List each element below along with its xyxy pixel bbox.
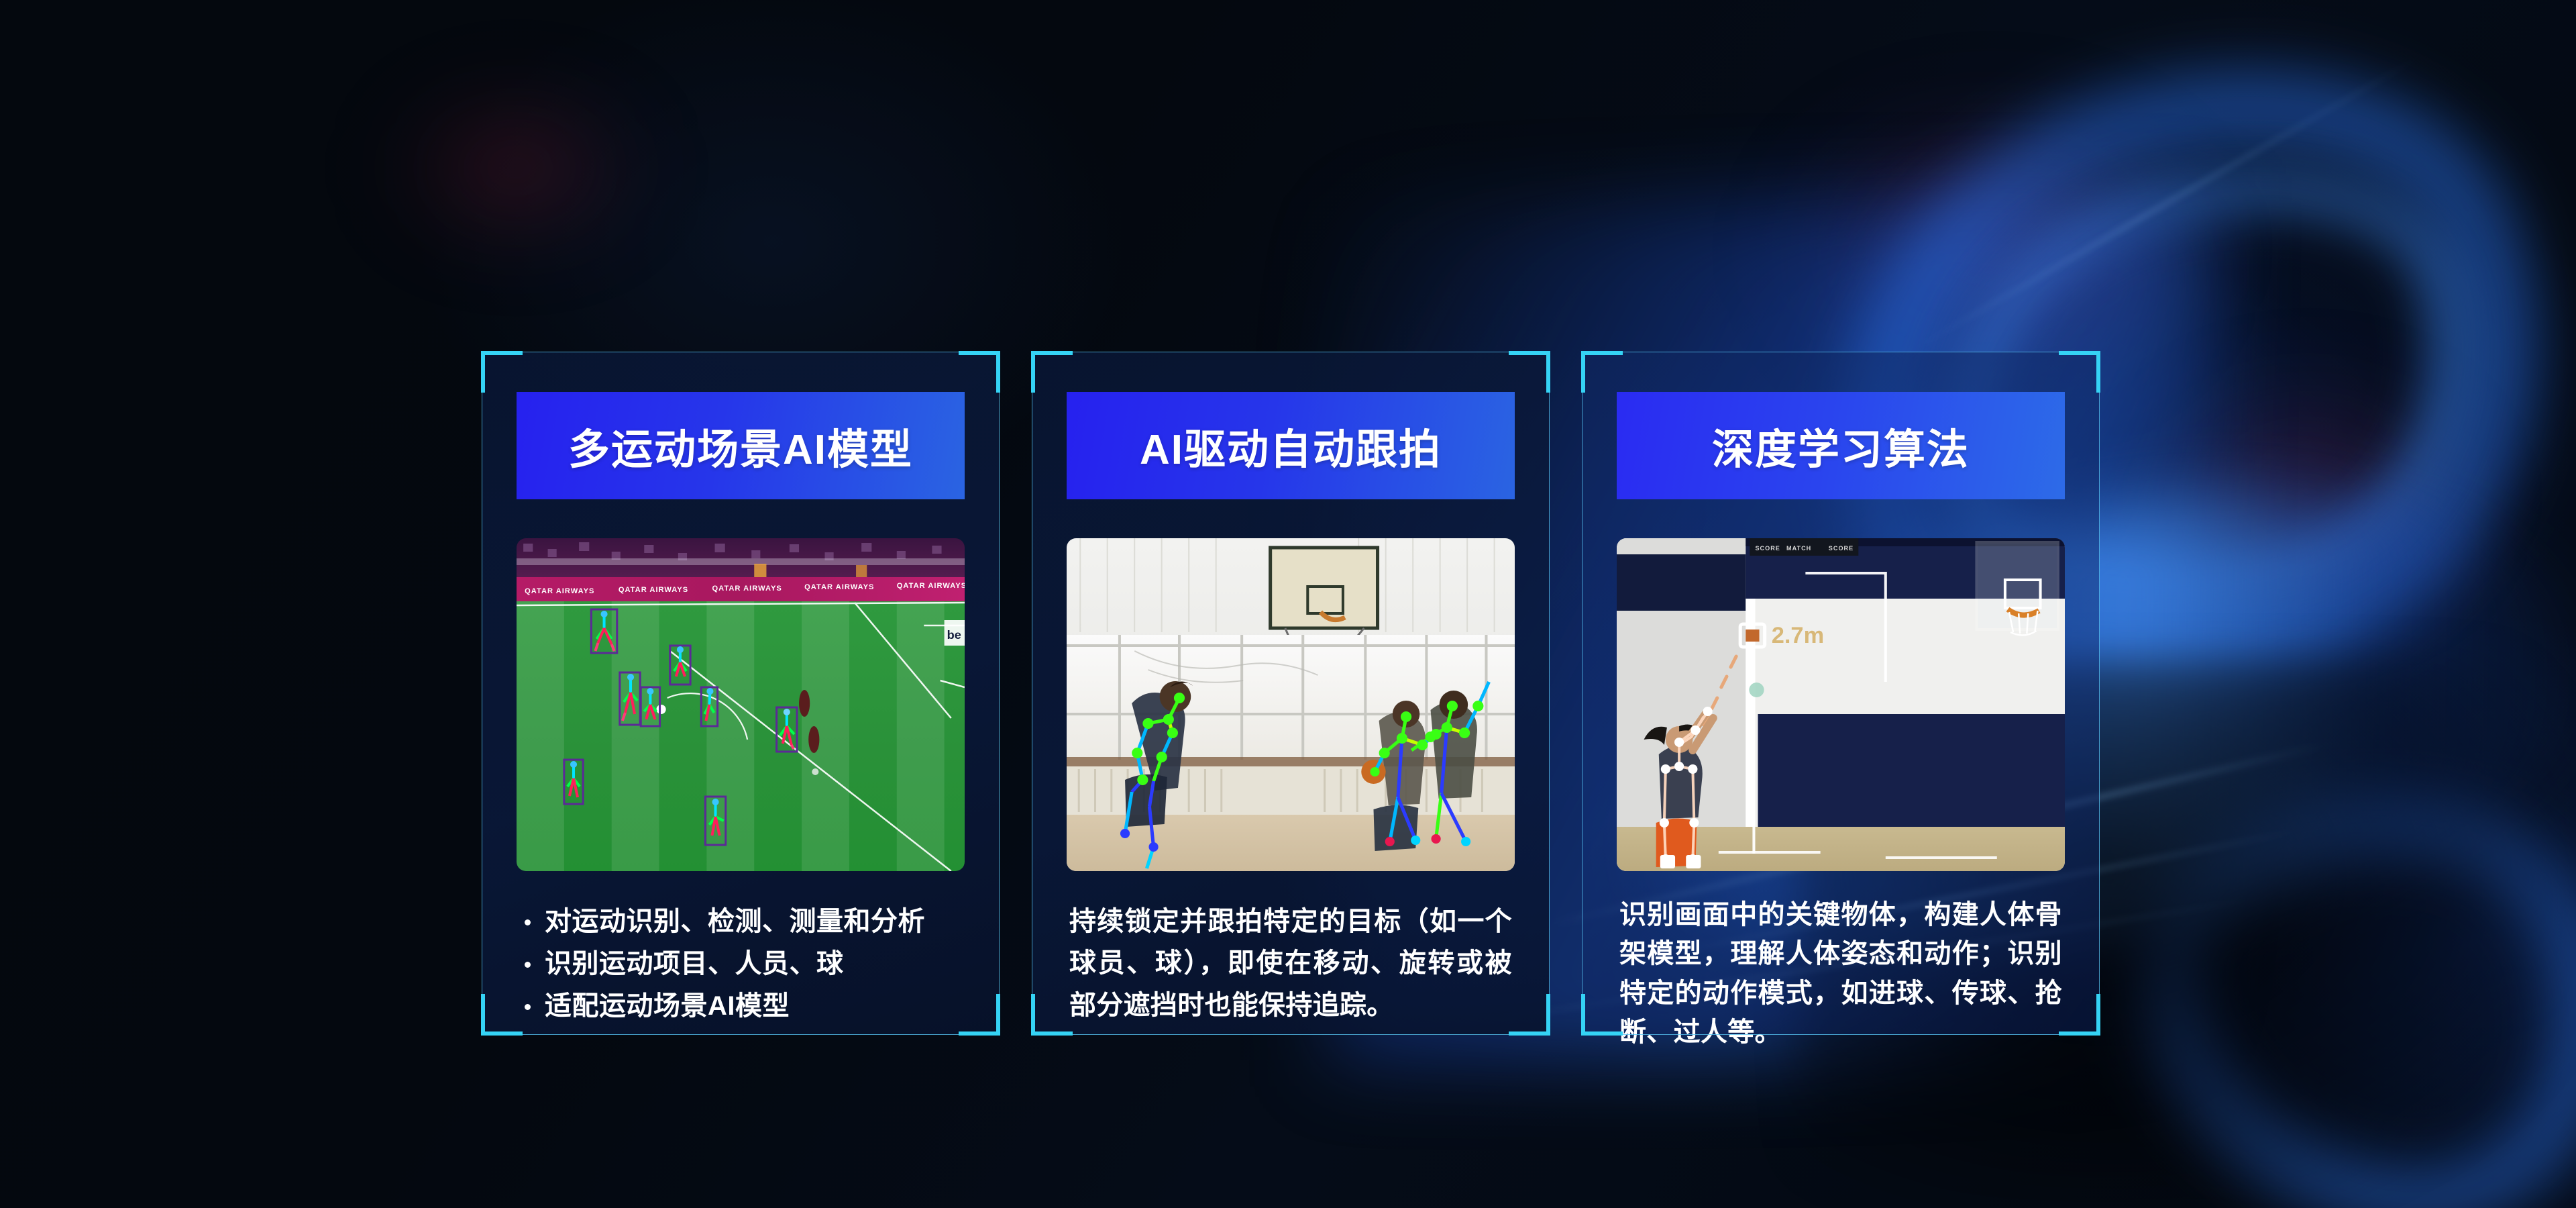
- svg-text:SCORE: SCORE: [1755, 545, 1780, 552]
- corner-bracket-top-right: [959, 351, 1000, 393]
- measurement-label: 2.7m: [1772, 623, 1824, 648]
- svg-text:QATAR AIRWAYS: QATAR AIRWAYS: [897, 582, 965, 590]
- card-title-multi-sport-ai-model: 多运动场景AI模型: [517, 392, 965, 499]
- background-magenta-glow-left: [376, 81, 657, 255]
- card-title-deep-learning-algorithm: 深度学习算法: [1617, 392, 2065, 499]
- svg-text:SCORE: SCORE: [1829, 545, 1854, 552]
- feature-card-multi-sport-ai-model[interactable]: 多运动场景AI模型: [482, 352, 1000, 1035]
- svg-text:QATAR AIRWAYS: QATAR AIRWAYS: [619, 586, 688, 594]
- corner-bracket-top-left: [1031, 351, 1073, 393]
- card-title-ai-auto-tracking: AI驱动自动跟拍: [1067, 392, 1515, 499]
- corner-bracket-top-right: [1509, 351, 1550, 393]
- basketball-shot-measurement-image: SCORE MATCH SCORE: [1617, 538, 2065, 871]
- card-body-ai-auto-tracking: 持续锁定并跟拍特定的目标（如一个球员、球），即使在移动、旋转或被部分遮挡时也能保…: [1067, 901, 1515, 1026]
- card-body-deep-learning-algorithm: 识别画面中的关键物体，构建人体骨架模型，理解人体姿态和动作；识别特定的动作模式，…: [1617, 895, 2065, 1052]
- svg-text:be: be: [947, 628, 961, 642]
- soccer-pitch-detection-image: QATAR AIRWAYS QATAR AIRWAYS QATAR AIRWAY…: [517, 538, 965, 871]
- list-item: 对运动识别、检测、测量和分析: [517, 901, 965, 943]
- feature-description: 识别画面中的关键物体，构建人体骨架模型，理解人体姿态和动作；识别特定的动作模式，…: [1619, 895, 2062, 1052]
- basketball-gym-pose-tracking-image: [1067, 538, 1515, 871]
- svg-text:QATAR AIRWAYS: QATAR AIRWAYS: [804, 583, 874, 591]
- svg-text:QATAR AIRWAYS: QATAR AIRWAYS: [525, 587, 594, 595]
- card-body-multi-sport-ai-model: 对运动识别、检测、测量和分析 识别运动项目、人员、球 适配运动场景AI模型: [517, 901, 965, 1028]
- feature-description: 持续锁定并跟拍特定的目标（如一个球员、球），即使在移动、旋转或被部分遮挡时也能保…: [1069, 901, 1512, 1026]
- feature-card-deep-learning-algorithm[interactable]: 深度学习算法 SCORE MATCH SCOR: [1582, 352, 2100, 1035]
- corner-bracket-top-right: [2059, 351, 2100, 393]
- feature-bullet-list: 对运动识别、检测、测量和分析 识别运动项目、人员、球 适配运动场景AI模型: [517, 901, 965, 1028]
- corner-bracket-bottom-right: [959, 994, 1000, 1036]
- corner-bracket-bottom-right: [2059, 994, 2100, 1036]
- svg-text:MATCH: MATCH: [1786, 545, 1811, 552]
- corner-bracket-top-left: [1581, 351, 1623, 393]
- list-item: 适配运动场景AI模型: [517, 985, 965, 1027]
- feature-card-group: 多运动场景AI模型: [482, 352, 2100, 1035]
- list-item: 识别运动项目、人员、球: [517, 943, 965, 985]
- corner-bracket-top-left: [481, 351, 523, 393]
- feature-card-ai-auto-tracking[interactable]: AI驱动自动跟拍: [1032, 352, 1550, 1035]
- svg-text:QATAR AIRWAYS: QATAR AIRWAYS: [712, 585, 782, 593]
- corner-bracket-bottom-right: [1509, 994, 1550, 1036]
